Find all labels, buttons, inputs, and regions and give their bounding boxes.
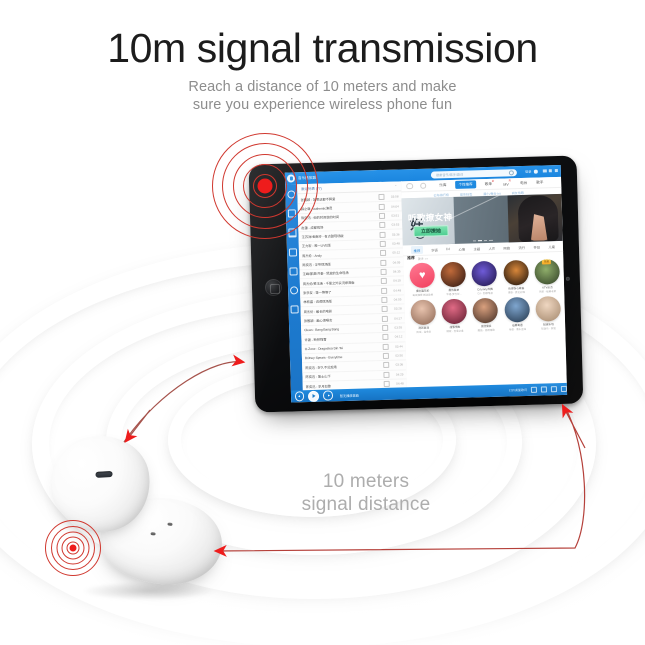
album-subtitle: 每日推荐 精选歌单 bbox=[412, 293, 433, 298]
promo-banner[interactable]: 好 听歌撩女神 立即撩她 bbox=[402, 194, 563, 245]
album-subtitle: DJ · 劲爆电音 bbox=[478, 291, 493, 295]
download-icon[interactable] bbox=[379, 222, 385, 228]
playlist-row-duration: 03:53 bbox=[388, 223, 399, 227]
playlist-icon[interactable] bbox=[551, 386, 557, 392]
playlist-row-title: 周杰伦/费玉清 - 千里之外实况录音版 bbox=[303, 279, 378, 286]
album-cell[interactable]: 独家KTV必点热歌 · 经典老歌 bbox=[532, 259, 562, 294]
recommend-more-link[interactable]: 更多 >> bbox=[418, 256, 428, 260]
banner-dot-active[interactable] bbox=[478, 240, 481, 241]
download-icon[interactable] bbox=[381, 278, 387, 284]
album-grid: ♥播你喜欢的每日推荐 精选歌单最热歌单华语·罗志祥...DJ party热舞DJ… bbox=[407, 259, 563, 335]
now-playing-label: 暂无播放歌曲 bbox=[340, 392, 359, 398]
next-track-icon[interactable] bbox=[323, 391, 333, 401]
playlist-row-duration: 04:12 bbox=[391, 335, 402, 339]
download-icon[interactable] bbox=[383, 362, 389, 368]
distance-line-1: 10 meters bbox=[323, 471, 409, 492]
download-icon[interactable] bbox=[381, 269, 387, 275]
album-subtitle: 华语·罗志祥... bbox=[446, 292, 462, 296]
album-thumbnail[interactable]: 独家 bbox=[534, 259, 560, 285]
download-icon[interactable] bbox=[379, 203, 385, 209]
charging-contact-slot bbox=[95, 471, 112, 478]
playlist-row-duration: 03:55 bbox=[391, 325, 402, 329]
playlist-row-duration: 04:48 bbox=[393, 381, 404, 385]
subtitle-line-1: Reach a distance of 10 meters and make bbox=[188, 79, 456, 95]
playlist-row-title: 陈奕迅 - 富士山下 bbox=[305, 372, 380, 379]
avatar[interactable] bbox=[534, 169, 538, 173]
playlist-row-duration: 04:05 bbox=[390, 297, 401, 301]
album-thumbnail[interactable]: ♥ bbox=[409, 263, 435, 289]
album-thumbnail[interactable] bbox=[473, 298, 499, 324]
album-subtitle: 情歌 · 恋爱必备 bbox=[446, 329, 463, 333]
tab-item[interactable]: 歌单新 bbox=[485, 180, 495, 187]
page-headline: 10m signal transmission bbox=[0, 24, 645, 73]
album-subtitle: 舞曲 · 酒吧嗨歌 bbox=[478, 328, 495, 332]
microphone-holes bbox=[150, 532, 155, 536]
home-button[interactable] bbox=[265, 279, 282, 296]
ripple-core-dot bbox=[258, 179, 273, 194]
genre-chip[interactable]: DJ bbox=[446, 247, 450, 251]
chevron-up-icon[interactable]: ⌃ bbox=[394, 184, 397, 188]
earbud-shadow bbox=[84, 582, 212, 600]
minimize-icon[interactable] bbox=[543, 169, 546, 172]
playlist-row-duration: 04:17 bbox=[391, 316, 402, 320]
heart-icon: ♥ bbox=[419, 270, 426, 281]
download-icon[interactable] bbox=[379, 213, 385, 219]
search-icon[interactable] bbox=[508, 170, 514, 176]
nav-tabs: 乐库个性推荐歌单新MV热电台歌手 bbox=[439, 179, 543, 190]
tab-item[interactable]: 乐库 bbox=[439, 183, 446, 188]
signal-ripple-earbud bbox=[44, 519, 102, 577]
window-controls bbox=[543, 169, 558, 173]
microphone-holes bbox=[167, 523, 172, 527]
download-icon[interactable] bbox=[380, 241, 386, 247]
page-subtitle: Reach a distance of 10 meters and make s… bbox=[0, 78, 645, 114]
album-subtitle: 轻音乐 · 放松 bbox=[541, 327, 556, 331]
album-subtitle: 粤语 · 港乐金曲 bbox=[509, 327, 526, 331]
genre-chip[interactable]: 网络 bbox=[503, 245, 510, 250]
genre-chip[interactable]: 华语 bbox=[431, 247, 438, 252]
player-right-controls: 打开桌面歌词 bbox=[509, 386, 567, 394]
playlist-row-title: 张学友 - 等一等等了 bbox=[303, 288, 378, 295]
genre-chip[interactable]: 儿童 bbox=[548, 244, 555, 249]
playlist-row-title: 陈奕迅 - 好久不见现场 bbox=[305, 363, 380, 370]
playlist-row-title: 张靓颖 - 画心演唱会 bbox=[304, 316, 379, 323]
album-cell[interactable]: 经典粤语粤语 · 港乐金曲 bbox=[502, 297, 532, 332]
playlist-row-duration: 03:58 bbox=[387, 195, 398, 199]
playlist-row-duration: 04:04 bbox=[388, 204, 399, 208]
genre-chip[interactable]: 流行 bbox=[518, 244, 525, 249]
tab-badge: 热 bbox=[509, 180, 511, 183]
album-subtitle: 情歌 · 男女对唱 bbox=[508, 290, 525, 294]
genre-chip[interactable]: 心情 bbox=[458, 246, 465, 251]
repeat-icon[interactable] bbox=[531, 387, 537, 393]
playlist-row-duration: 04:35 bbox=[390, 269, 401, 273]
genre-chip[interactable]: 推荐 bbox=[411, 246, 423, 254]
download-icon[interactable] bbox=[384, 381, 390, 387]
download-icon[interactable] bbox=[381, 287, 387, 293]
album-cell[interactable]: 夜店慢摇舞曲 · 酒吧嗨歌 bbox=[471, 298, 501, 333]
play-icon[interactable] bbox=[308, 390, 319, 401]
product-marketing-image: 10m signal transmission Reach a distance… bbox=[0, 0, 645, 645]
download-icon[interactable] bbox=[382, 306, 388, 312]
album-cell[interactable]: 最热歌单华语·罗志祥... bbox=[439, 262, 469, 297]
desktop-lyrics-label[interactable]: 打开桌面歌词 bbox=[509, 388, 527, 393]
banner-dot[interactable] bbox=[484, 240, 487, 241]
download-icon[interactable] bbox=[379, 231, 385, 237]
download-icon[interactable] bbox=[378, 194, 384, 200]
volume-icon[interactable] bbox=[561, 386, 567, 392]
playlist-row-duration: 03:36 bbox=[392, 363, 403, 367]
close-icon[interactable] bbox=[555, 169, 558, 172]
playlist-row-title: 周杰伦 - 最长的电影 bbox=[304, 307, 379, 314]
album-thumbnail[interactable] bbox=[410, 300, 436, 326]
download-icon[interactable] bbox=[382, 334, 388, 340]
playlist-row-duration: 03:48 bbox=[389, 241, 400, 245]
playlist-row-duration: 03:36 bbox=[388, 232, 399, 236]
download-icon[interactable] bbox=[383, 343, 389, 349]
maximize-icon[interactable] bbox=[549, 169, 552, 172]
ripple-core-dot bbox=[70, 545, 77, 552]
genre-chip[interactable]: 人声 bbox=[488, 245, 495, 250]
download-icon[interactable] bbox=[383, 372, 389, 378]
playlist-row-title: O-Zone - Dragostea Din Tei bbox=[305, 345, 380, 351]
content-pane: 乐库个性推荐歌单新MV热电台歌手 公布排行榜音乐标签最小/每分 hit网友热歌 … bbox=[401, 177, 567, 387]
playlist-row-title: 许嵩 - 断桥残雪 bbox=[304, 335, 379, 342]
search-input[interactable]: 搜索音乐/歌手/歌词 bbox=[431, 169, 517, 178]
login-label[interactable]: 登录 bbox=[525, 169, 531, 174]
playlist-row-duration: 03:44 bbox=[392, 344, 403, 348]
album-cell[interactable]: 轻音乐坊轻音乐 · 放松 bbox=[533, 296, 563, 331]
heart-icon[interactable] bbox=[541, 386, 547, 392]
grid-icon[interactable] bbox=[290, 305, 298, 313]
tablet-screen: 音乐播放器 搜索音乐/歌手/歌词 登录 bbox=[285, 165, 567, 403]
playlist-row-title: 汪峰/那英/齐秦 - 怒放的生命现场 bbox=[303, 270, 378, 277]
tab-item[interactable]: 歌手 bbox=[536, 180, 543, 185]
device-icon[interactable] bbox=[289, 267, 297, 275]
album-thumbnail[interactable] bbox=[442, 299, 468, 325]
previous-track-icon[interactable] bbox=[295, 391, 305, 401]
playlist-row-title: Britney Spears - Everytime bbox=[305, 354, 380, 360]
front-camera-icon bbox=[566, 277, 570, 281]
album-thumbnail[interactable] bbox=[535, 296, 561, 322]
playlist-row-duration: 04:19 bbox=[390, 279, 401, 283]
tab-item[interactable]: 电台 bbox=[520, 180, 527, 185]
playlist-row-duration: 03:50 bbox=[392, 353, 403, 357]
album-cell[interactable]: DJ party热舞DJ · 劲爆电音 bbox=[470, 261, 500, 296]
album-subtitle: 民谣 · 治愈系 bbox=[416, 330, 431, 334]
album-thumbnail[interactable] bbox=[503, 260, 529, 286]
banner-dot[interactable] bbox=[489, 239, 492, 240]
album-thumbnail[interactable] bbox=[472, 261, 498, 287]
playlist-row-duration: 05:12 bbox=[389, 251, 400, 255]
download-icon[interactable] bbox=[383, 353, 389, 359]
tab-item[interactable]: MV热 bbox=[503, 180, 511, 186]
download-icon[interactable] bbox=[380, 250, 386, 256]
playlist-row-title: 王力宏 - 唯一LIVE版 bbox=[302, 241, 377, 248]
album-thumbnail[interactable] bbox=[504, 297, 530, 323]
distance-line-2: signal distance bbox=[246, 493, 486, 516]
album-cell[interactable]: 伤感伤心歌曲情歌 · 男女对唱 bbox=[501, 260, 531, 295]
playlist-row-title: Clean - Bang Bang Bang bbox=[304, 326, 379, 332]
download-icon[interactable] bbox=[381, 297, 387, 303]
download-icon[interactable] bbox=[382, 315, 388, 321]
banner-dot[interactable] bbox=[473, 240, 476, 241]
playlist-row-duration: 03:51 bbox=[388, 213, 399, 217]
playlist-row-duration: 04:29 bbox=[392, 372, 403, 376]
forward-arrow-icon[interactable] bbox=[420, 182, 427, 189]
topbar-right-controls: 登录 bbox=[525, 168, 558, 174]
tab-badge: 新 bbox=[492, 180, 494, 183]
download-icon[interactable] bbox=[380, 259, 386, 265]
album-cell[interactable]: 甜蜜情歌情歌 · 恋爱必备 bbox=[440, 299, 470, 334]
album-badge: 独家 bbox=[542, 259, 551, 264]
playlist-row-title: 周杰伦 - Andy bbox=[302, 251, 377, 258]
genre-chip[interactable]: 怀旧 bbox=[533, 244, 540, 249]
signal-ripple-tablet bbox=[215, 136, 315, 236]
search-placeholder: 搜索音乐/歌手/歌词 bbox=[436, 171, 463, 177]
tab-active[interactable]: 个性推荐 bbox=[455, 181, 476, 189]
album-cell[interactable]: ♥播你喜欢的每日推荐 精选歌单 bbox=[407, 262, 437, 297]
back-arrow-icon[interactable] bbox=[406, 183, 413, 190]
playlist-row-title: 陈奕迅 - 浮夸现场版 bbox=[302, 260, 377, 267]
genre-chip[interactable]: 主题 bbox=[473, 246, 480, 251]
user-icon[interactable] bbox=[290, 286, 298, 294]
playlist-row-duration: 04:48 bbox=[390, 288, 401, 292]
playlist-row-duration: 03:28 bbox=[391, 307, 402, 311]
banner-center bbox=[454, 195, 509, 243]
radio-icon[interactable] bbox=[289, 248, 297, 256]
subtitle-line-2: sure you experience wireless phone fun bbox=[0, 96, 645, 114]
album-cell[interactable]: 清新民谣民谣 · 治愈系 bbox=[408, 300, 438, 335]
banner-title: 听歌撩女神 bbox=[404, 211, 456, 224]
album-thumbnail[interactable] bbox=[441, 262, 467, 288]
download-icon[interactable] bbox=[382, 325, 388, 331]
playlist-row-duration: 04:09 bbox=[389, 260, 400, 264]
recommend-header: 推荐 更多 >> bbox=[407, 256, 428, 262]
recommend-title: 推荐 bbox=[407, 256, 415, 261]
playlist-row-title: 林宥嘉 - 说谎现场版 bbox=[303, 298, 378, 305]
distance-label: 10 meters signal distance bbox=[246, 470, 486, 516]
album-subtitle: 热歌 · 经典老歌 bbox=[539, 289, 556, 293]
banner-cta-button[interactable]: 立即撩她 bbox=[413, 225, 448, 237]
